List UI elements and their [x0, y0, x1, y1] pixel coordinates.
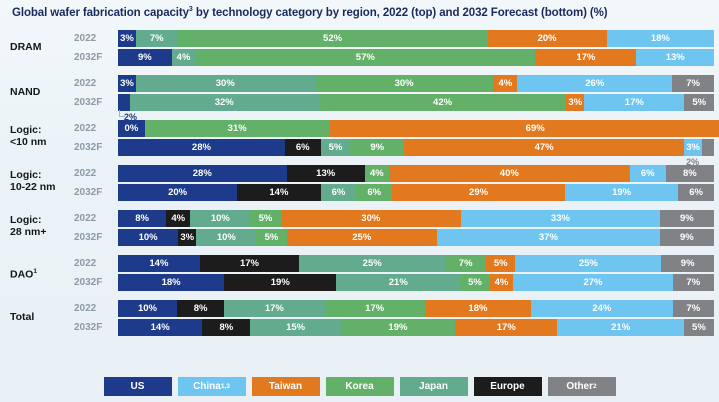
bar-segment-us[interactable]: 8% [118, 210, 166, 227]
bar-segment-taiwan[interactable]: 17% [535, 49, 636, 66]
chart-bar-row: 2032F32%42%3%17%5% [0, 94, 719, 111]
bar-segment-us[interactable]: 18% [118, 274, 224, 291]
bar-segment-us[interactable]: 28% [118, 139, 285, 156]
legend-item-label: Taiwan [269, 381, 302, 392]
chart-group-logic-28-nm: Logic:28 nm+20228%4%10%5%30%33%9%2032F10… [0, 210, 719, 246]
bar-segment-china[interactable]: 26% [517, 75, 672, 92]
year-label: 2022 [74, 33, 110, 44]
chart-group-logic-10-22-nm: Logic:10-22 nm202228%13%4%40%6%8%2032F20… [0, 165, 719, 201]
bar-segment-china[interactable]: 18% [607, 30, 714, 47]
chart-bar-row: 2032F10%3%10%5%25%37%9% [0, 229, 719, 246]
bar-segment-us[interactable]: 10% [118, 300, 177, 317]
bar-segment-us[interactable]: 3% [118, 75, 136, 92]
bar-segment-china[interactable]: 17% [584, 94, 684, 111]
bar-segment-japan[interactable]: 32% [130, 94, 319, 111]
bar-segment-taiwan[interactable]: 4% [493, 75, 517, 92]
year-label: 2022 [74, 123, 110, 134]
bar-segment-china[interactable]: 6% [630, 165, 666, 182]
stacked-bar: 3%30%30%4%26%7% [118, 75, 714, 92]
bar-segment-korea[interactable]: 19% [341, 319, 455, 336]
bar-segment-europe[interactable]: 17% [200, 255, 299, 272]
year-label: 2032F [74, 97, 110, 108]
year-label: 2022 [74, 78, 110, 89]
chart-bar-row: 2032F28%6%5%9%47%3% [0, 139, 719, 156]
bar-segment-japan[interactable]: 6% [321, 184, 357, 201]
bar-segment-china[interactable]: 3% [684, 139, 702, 156]
bar-segment-korea[interactable]: 5% [250, 210, 280, 227]
bar-segment-china[interactable]: 24% [531, 300, 673, 317]
bar-segment-europe[interactable]: 6% [285, 139, 321, 156]
chart-group-dram: DRAM20223%7%52%20%18%2032F9%4%57%17%13% [0, 30, 719, 66]
legend-item-label: China [193, 381, 221, 392]
chart-bar-row: 20228%4%10%5%30%33%9% [0, 210, 719, 227]
bar-segment-japan[interactable]: 4% [172, 49, 196, 66]
bar-segment-china[interactable]: 21% [557, 319, 683, 336]
bar-segment-japan[interactable]: 7% [136, 30, 178, 47]
legend-item-label: Europe [490, 381, 524, 392]
bar-segment-taiwan[interactable]: 40% [389, 165, 630, 182]
stacked-bar: 28%13%4%40%6%8% [118, 165, 714, 182]
bar-segment-japan[interactable]: 10% [190, 210, 250, 227]
bar-segment-taiwan[interactable]: 5% [486, 255, 515, 272]
bar-segment-korea[interactable]: 57% [195, 49, 535, 66]
legend-item-china[interactable]: China1,3 [178, 377, 246, 396]
stacked-bar: 14%8%15%19%17%21%5% [118, 319, 714, 336]
bar-segment-korea[interactable]: 6% [356, 184, 392, 201]
bar-segment-other[interactable]: 7% [672, 75, 714, 92]
bar-segment-japan[interactable]: 10% [196, 229, 256, 246]
bar-segment-korea[interactable]: 42% [319, 94, 567, 111]
bar-segment-other[interactable] [702, 139, 714, 156]
stacked-bar-chart: DRAM20223%7%52%20%18%2032F9%4%57%17%13%N… [0, 30, 719, 360]
bar-segment-korea[interactable]: 52% [178, 30, 488, 47]
legend-item-label: Other [566, 381, 593, 392]
legend-item-label: Korea [345, 381, 373, 392]
bar-segment-europe[interactable]: 4% [166, 210, 190, 227]
bar-segment-taiwan[interactable]: 18% [425, 300, 531, 317]
stacked-bar: 28%6%5%9%47%3% [118, 139, 714, 156]
bar-segment-taiwan[interactable]: 30% [281, 210, 462, 227]
legend-item-label: US [131, 381, 145, 392]
stacked-bar: 8%4%10%5%30%33%9% [118, 210, 714, 227]
chart-bar-row: 2032F20%14%6%6%29%19%6% [0, 184, 719, 201]
bar-segment-taiwan[interactable]: 69% [330, 120, 719, 137]
stacked-bar: 9%4%57%17%13% [118, 49, 714, 66]
bar-segment-taiwan[interactable]: 47% [404, 139, 684, 156]
bar-segment-us[interactable]: 14% [118, 319, 202, 336]
bar-segment-taiwan[interactable]: 4% [490, 274, 514, 291]
bar-segment-europe[interactable]: 8% [177, 300, 224, 317]
bar-segment-korea[interactable]: 31% [145, 120, 330, 137]
stacked-bar: 20%14%6%6%29%19%6% [118, 184, 714, 201]
legend-item-superscript: 1,3 [221, 383, 230, 390]
page-title-text: Global wafer fabrication capacity [12, 7, 189, 19]
legend-item-taiwan[interactable]: Taiwan [252, 377, 320, 396]
bar-segment-taiwan[interactable]: 25% [287, 229, 438, 246]
page-title-rest: by technology category by region, 2022 (… [193, 7, 608, 19]
chart-group-dao: DAO1202214%17%25%7%5%25%9%2032F18%19%21%… [0, 255, 719, 291]
stacked-bar: 10%3%10%5%25%37%9% [118, 229, 714, 246]
bar-segment-other[interactable]: 5% [684, 319, 714, 336]
bar-segment-korea[interactable]: 17% [325, 300, 425, 317]
stacked-bar: 32%42%3%17%5% [118, 94, 714, 111]
legend-item-other[interactable]: Other2 [548, 377, 616, 396]
bar-segment-other[interactable]: 9% [660, 210, 714, 227]
bar-segment-other[interactable]: 9% [661, 255, 714, 272]
year-label: 2022 [74, 213, 110, 224]
chart-bar-row: 202214%17%25%7%5%25%9% [0, 255, 719, 272]
bar-segment-china[interactable]: 25% [515, 255, 661, 272]
bar-segment-us[interactable]: 3% [118, 30, 136, 47]
bar-segment-us[interactable]: 20% [118, 184, 237, 201]
bar-segment-europe[interactable]: 13% [287, 165, 365, 182]
year-label: 2032F [74, 187, 110, 198]
bar-segment-us[interactable]: 28% [118, 165, 287, 182]
year-label: 2022 [74, 168, 110, 179]
bar-segment-japan[interactable]: 25% [299, 255, 445, 272]
year-label: 2032F [74, 322, 110, 333]
year-label: 2032F [74, 232, 110, 243]
stacked-bar: 18%19%21%5%4%27%7% [118, 274, 714, 291]
bar-segment-china[interactable]: 19% [565, 184, 678, 201]
bar-segment-us[interactable]: 9% [118, 49, 172, 66]
year-label: 2022 [74, 303, 110, 314]
bar-segment-korea[interactable]: 7% [445, 255, 486, 272]
bar-segment-europe[interactable]: 14% [237, 184, 320, 201]
legend-item-label: Japan [419, 381, 448, 392]
bar-segment-china[interactable]: 33% [461, 210, 660, 227]
bar-segment-taiwan[interactable]: 3% [566, 94, 584, 111]
bar-segment-europe[interactable]: 3% [178, 229, 196, 246]
bar-segment-us[interactable]: 14% [118, 255, 200, 272]
bar-segment-china[interactable]: 37% [437, 229, 660, 246]
bar-segment-korea[interactable]: 5% [256, 229, 286, 246]
stacked-bar: 14%17%25%7%5%25%9% [118, 255, 714, 272]
bar-segment-other[interactable]: 9% [660, 229, 714, 246]
bar-segment-other[interactable]: 8% [666, 165, 714, 182]
bar-segment-japan[interactable]: 15% [250, 319, 340, 336]
bar-segment-korea[interactable]: 30% [315, 75, 494, 92]
bar-segment-us[interactable]: 0% [118, 120, 145, 137]
year-label: 2032F [74, 277, 110, 288]
legend-item-us[interactable]: US [104, 377, 172, 396]
stacked-bar: 0%31%69% [118, 120, 714, 137]
bar-segment-korea[interactable]: 9% [350, 139, 404, 156]
legend-item-europe[interactable]: Europe [474, 377, 542, 396]
chart-bar-row: 20223%7%52%20%18% [0, 30, 719, 47]
bar-segment-china[interactable]: 27% [513, 274, 672, 291]
chart-bar-row: 2032F9%4%57%17%13% [0, 49, 719, 66]
year-label: 2022 [74, 258, 110, 269]
chart-group-logic-10-nm: Logic:<10 nm20220%31%69%2032F28%6%5%9%47… [0, 120, 719, 156]
legend-item-korea[interactable]: Korea [326, 377, 394, 396]
stacked-bar: 3%7%52%20%18% [118, 30, 714, 47]
year-label: 2032F [74, 142, 110, 153]
bar-segment-other[interactable]: 7% [673, 300, 714, 317]
bar-segment-us[interactable] [118, 94, 130, 111]
chart-page: Global wafer fabrication capacity3 by te… [0, 0, 719, 402]
chart-bar-row: 202210%8%17%17%18%24%7% [0, 300, 719, 317]
bar-segment-other[interactable]: 6% [678, 184, 714, 201]
legend-item-superscript: 2 [593, 383, 597, 390]
chart-group-nand: NAND20223%30%30%4%26%7%2032F32%42%3%17%5… [0, 75, 719, 111]
bar-segment-europe[interactable]: 19% [224, 274, 336, 291]
bar-segment-japan[interactable]: 21% [336, 274, 460, 291]
chart-bar-row: 2032F14%8%15%19%17%21%5% [0, 319, 719, 336]
bar-segment-europe[interactable]: 8% [202, 319, 250, 336]
chart-bar-row: 20220%31%69% [0, 120, 719, 137]
chart-legend: USChina1,3TaiwanKoreaJapanEuropeOther2 [0, 377, 719, 396]
chart-bar-row: 2032F18%19%21%5%4%27%7% [0, 274, 719, 291]
bar-segment-korea[interactable]: 4% [365, 165, 389, 182]
bar-segment-japan[interactable]: 17% [224, 300, 324, 317]
bar-segment-china[interactable]: 13% [636, 49, 713, 66]
chart-bar-row: 202228%13%4%40%6%8% [0, 165, 719, 182]
bar-segment-japan[interactable]: 30% [136, 75, 315, 92]
bar-segment-other[interactable]: 5% [684, 94, 714, 111]
stacked-bar: 10%8%17%17%18%24%7% [118, 300, 714, 317]
chart-bar-row: 20223%30%30%4%26%7% [0, 75, 719, 92]
legend-item-japan[interactable]: Japan [400, 377, 468, 396]
page-title: Global wafer fabrication capacity3 by te… [12, 6, 709, 19]
bar-segment-taiwan[interactable]: 29% [392, 184, 565, 201]
chart-group-total: Total202210%8%17%17%18%24%7%2032F14%8%15… [0, 300, 719, 336]
bar-segment-taiwan[interactable]: 20% [488, 30, 607, 47]
bar-segment-taiwan[interactable]: 17% [455, 319, 557, 336]
bar-segment-korea[interactable]: 5% [460, 274, 490, 291]
year-label: 2032F [74, 52, 110, 63]
bar-segment-us[interactable]: 10% [118, 229, 178, 246]
bar-segment-japan[interactable]: 5% [321, 139, 351, 156]
bar-segment-other[interactable]: 7% [673, 274, 714, 291]
